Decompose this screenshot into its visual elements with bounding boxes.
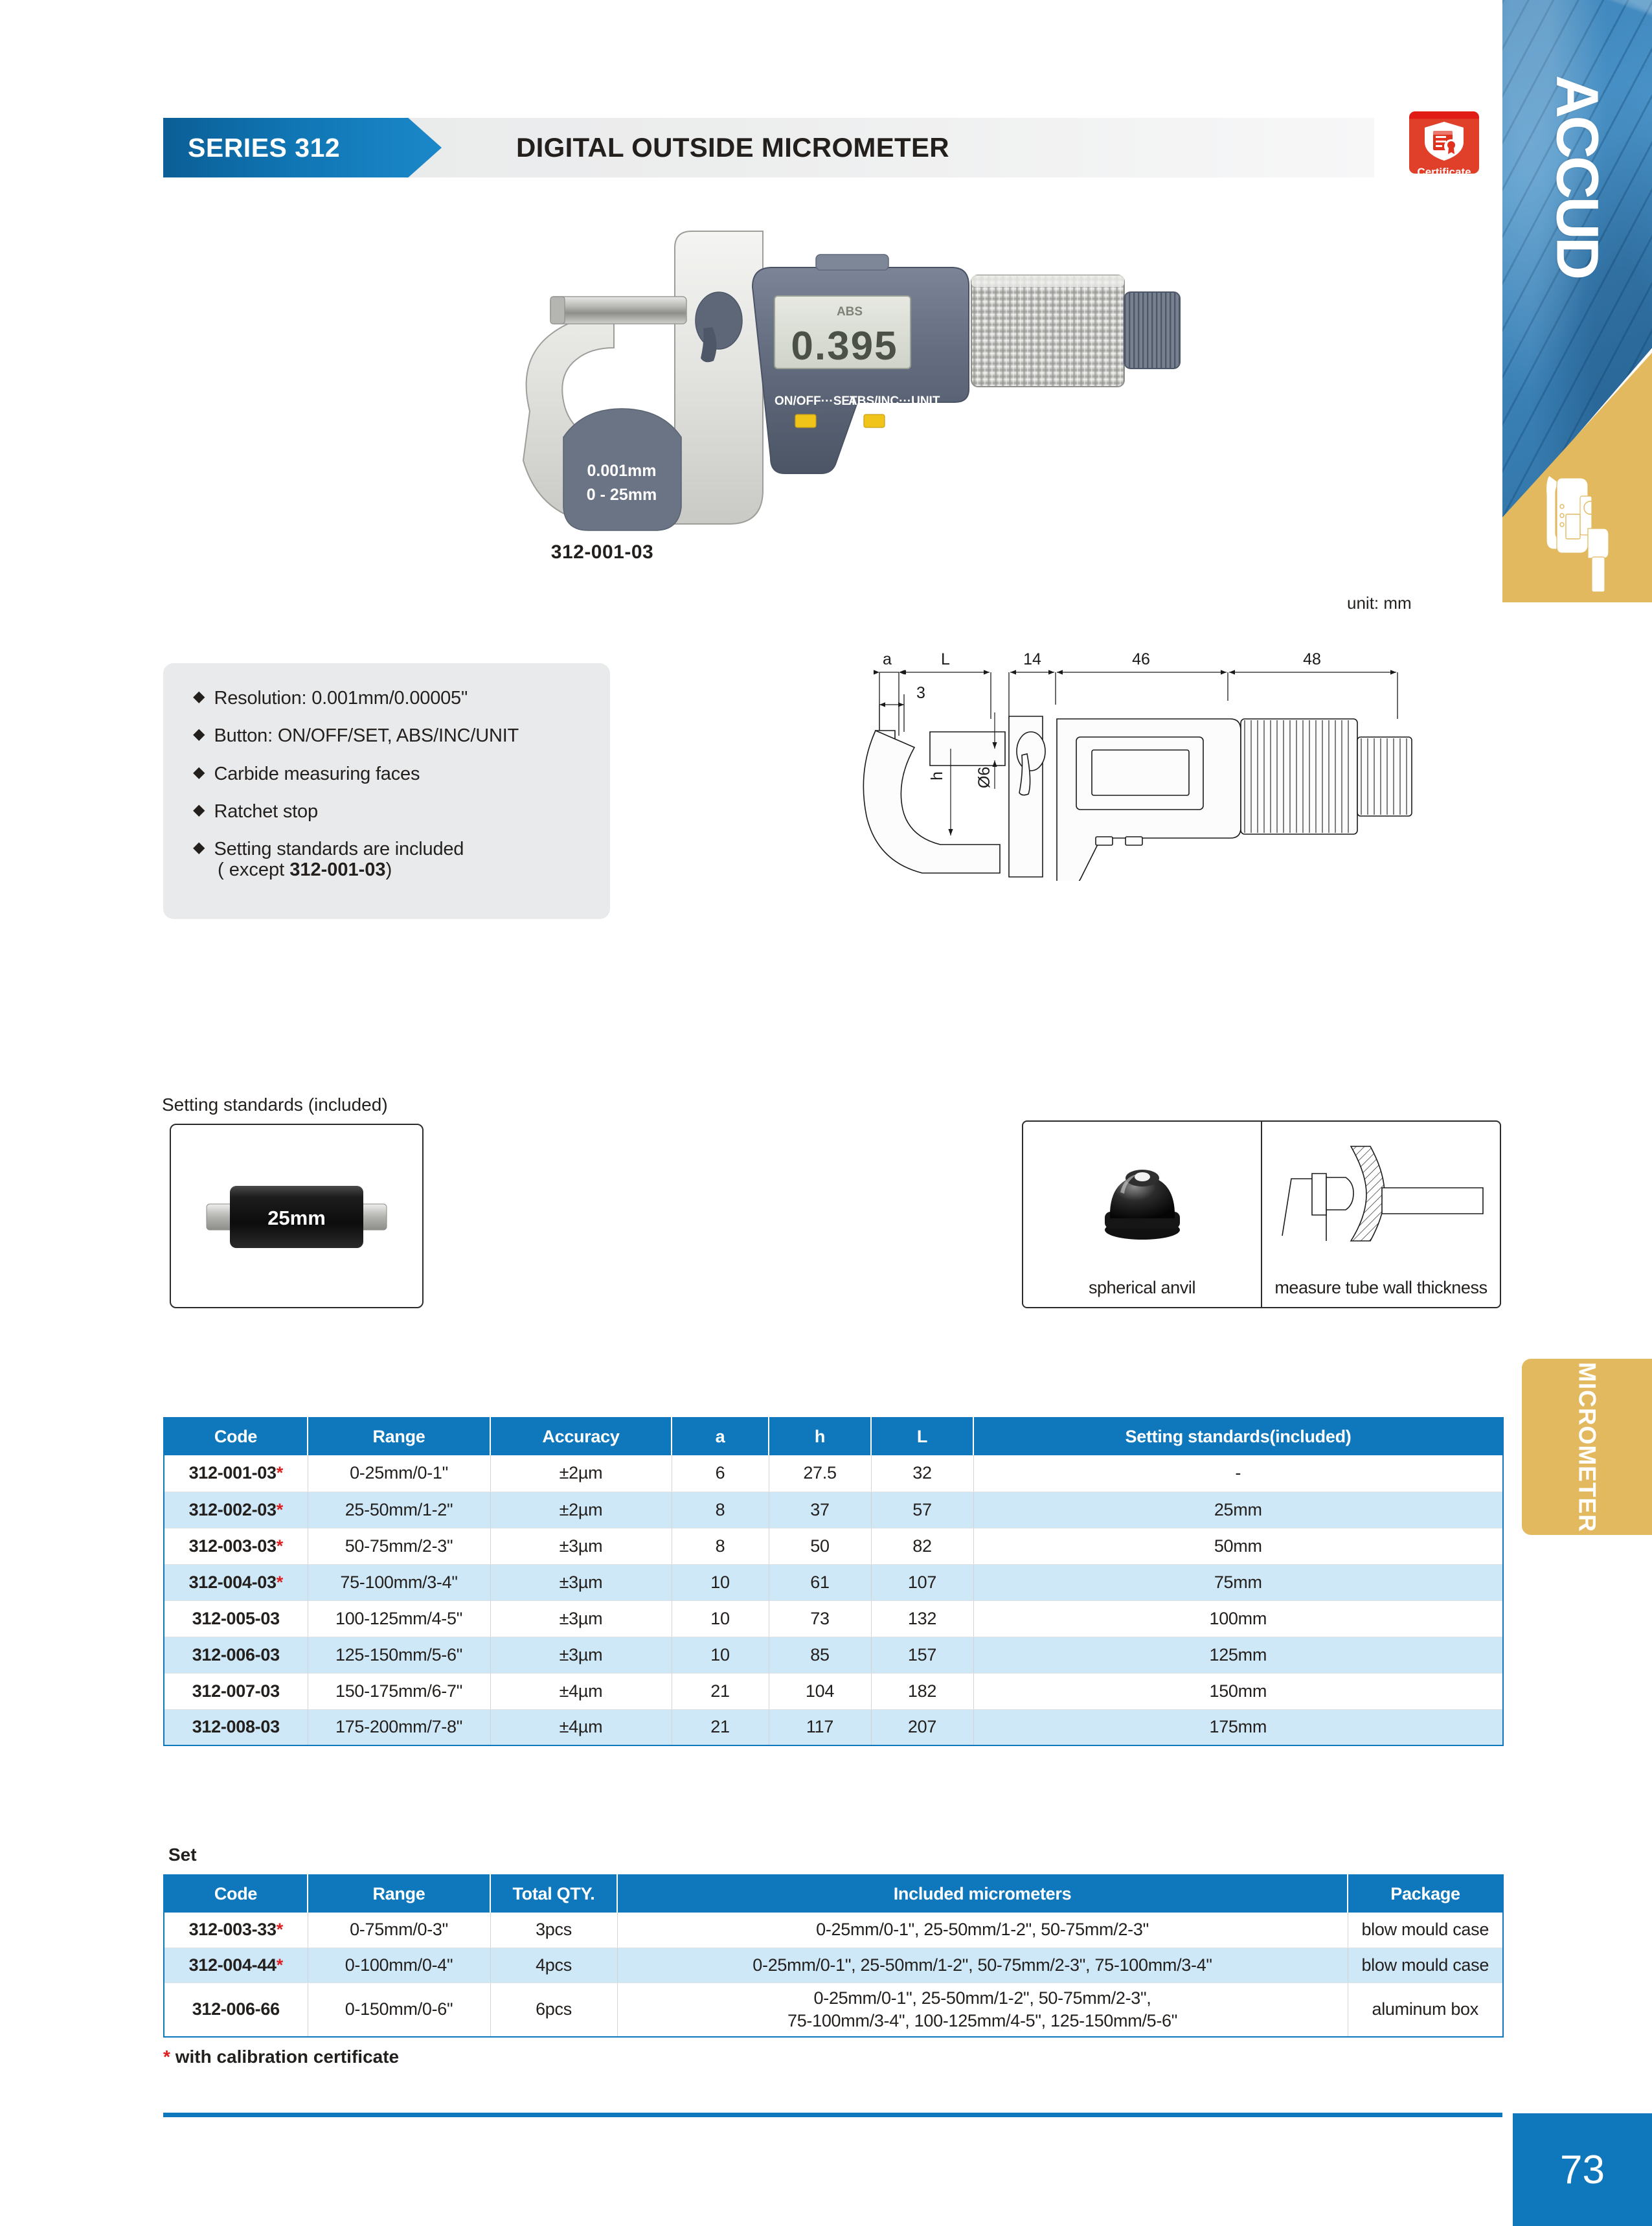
- feature-exception-note: ( except 312-001-03): [218, 859, 610, 881]
- cell-l: 182: [871, 1673, 973, 1709]
- cell-range: 175-200mm/7-8": [308, 1709, 490, 1745]
- footnote-text: with calibration certificate: [175, 2047, 399, 2067]
- cell-a: 10: [672, 1600, 769, 1637]
- accessory-tube-wall-measurement: measure tube wall thickness: [1261, 1122, 1500, 1307]
- cell-code: 312-004-03*: [164, 1564, 308, 1600]
- cell-package: aluminum box: [1348, 1982, 1503, 2037]
- table-row: 312-003-33*0-75mm/0-3"3pcs0-25mm/0-1", 2…: [164, 1913, 1503, 1948]
- mode-button: [864, 415, 885, 427]
- tube-wall-thickness-icon: [1274, 1137, 1488, 1254]
- series-badge: SERIES 312: [163, 118, 442, 177]
- bullet-diamond-icon: ◆: [193, 727, 205, 742]
- cell-h: 27.5: [769, 1455, 871, 1492]
- cell-l: 82: [871, 1528, 973, 1564]
- cell-range: 50-75mm/2-3": [308, 1528, 490, 1564]
- cell-l: 57: [871, 1492, 973, 1528]
- cell-total-qty: 3pcs: [490, 1913, 617, 1948]
- cell-code: 312-003-33*: [164, 1913, 308, 1948]
- brand-logo: ACCUD: [1502, 40, 1652, 312]
- cell-setting-standard: 125mm: [973, 1637, 1503, 1673]
- col-header-included-micrometers: Included micrometers: [617, 1875, 1348, 1913]
- cell-h: 104: [769, 1673, 871, 1709]
- cell-code: 312-005-03: [164, 1600, 308, 1637]
- feature-text: Setting standards are included: [214, 837, 464, 861]
- table-header-row: Code Range Total QTY. Included micromete…: [164, 1875, 1503, 1913]
- specification-table: Code Range Accuracy a h L Setting standa…: [163, 1417, 1504, 1746]
- exception-code: 312-001-03: [289, 859, 385, 880]
- dim-label-a: a: [883, 650, 892, 668]
- cell-code: 312-006-66: [164, 1982, 308, 2037]
- accessory-spherical-anvil: spherical anvil: [1023, 1122, 1261, 1307]
- cell-h: 61: [769, 1564, 871, 1600]
- cell-code: 312-006-03: [164, 1637, 308, 1673]
- cell-a: 10: [672, 1637, 769, 1673]
- cell-setting-standard: 75mm: [973, 1564, 1503, 1600]
- table-row: 312-003-03*50-75mm/2-3"±3µm8508250mm: [164, 1528, 1503, 1564]
- dim-label-46: 46: [1132, 650, 1150, 668]
- tube-wall-diagram: [1262, 1131, 1500, 1260]
- cell-accuracy: ±3µm: [490, 1600, 672, 1637]
- lcd-value: 0.395: [791, 324, 898, 369]
- cell-range: 25-50mm/1-2": [308, 1492, 490, 1528]
- cell-total-qty: 4pcs: [490, 1948, 617, 1982]
- micrometer-icon: [1540, 466, 1618, 596]
- cell-accuracy: ±4µm: [490, 1673, 672, 1709]
- feature-item: ◆ Ratchet stop: [193, 800, 610, 823]
- feature-item: ◆ Setting standards are included: [193, 837, 610, 861]
- col-header-code: Code: [164, 1418, 308, 1455]
- cell-accuracy: ±2µm: [490, 1492, 672, 1528]
- gauge-label: 25mm: [267, 1207, 326, 1229]
- feature-item: ◆ Button: ON/OFF/SET, ABS/INC/UNIT: [193, 724, 610, 747]
- series-label: SERIES 312: [163, 133, 340, 163]
- product-photo-micrometer: 0.001mm 0 - 25mm ABS 0.395 ON/OFF···SET …: [453, 217, 1205, 560]
- col-header-setting-standards: Setting standards(included): [973, 1418, 1503, 1455]
- cell-l: 132: [871, 1600, 973, 1637]
- frame-range-text: 0 - 25mm: [587, 486, 657, 504]
- bullet-diamond-icon: ◆: [193, 802, 205, 818]
- cell-setting-standard: 50mm: [973, 1528, 1503, 1564]
- col-header-range: Range: [308, 1418, 490, 1455]
- col-header-accuracy: Accuracy: [490, 1418, 672, 1455]
- feature-text: Carbide measuring faces: [214, 762, 420, 786]
- bullet-diamond-icon: ◆: [193, 840, 205, 856]
- accessory-panels: spherical anvil: [1022, 1120, 1501, 1308]
- cell-range: 0-25mm/0-1": [308, 1455, 490, 1492]
- cell-a: 8: [672, 1528, 769, 1564]
- cell-accuracy: ±2µm: [490, 1455, 672, 1492]
- col-header-code: Code: [164, 1875, 308, 1913]
- cell-l: 207: [871, 1709, 973, 1745]
- set-section-label: Set: [168, 1845, 197, 1865]
- dim-label-3: 3: [916, 684, 925, 702]
- cell-h: 50: [769, 1528, 871, 1564]
- setting-standards-title: Setting standards (included): [162, 1095, 388, 1115]
- footer-rule: [163, 2113, 1502, 2117]
- cell-package: blow mould case: [1348, 1948, 1503, 1982]
- calibration-asterisk: *: [277, 1955, 283, 1975]
- cell-range: 0-100mm/0-4": [308, 1948, 490, 1982]
- cell-total-qty: 6pcs: [490, 1982, 617, 2037]
- cell-l: 157: [871, 1637, 973, 1673]
- col-header-total-qty: Total QTY.: [490, 1875, 617, 1913]
- cell-included-micrometers: 0-25mm/0-1", 25-50mm/1-2", 50-75mm/2-3",…: [617, 1982, 1348, 2037]
- dim-label-L: L: [941, 650, 950, 668]
- cell-code: 312-008-03: [164, 1709, 308, 1745]
- calibration-asterisk: *: [277, 1500, 283, 1519]
- drawing-unit-label: unit: mm: [1347, 593, 1412, 613]
- cell-code: 312-002-03*: [164, 1492, 308, 1528]
- cell-range: 0-150mm/0-6": [308, 1982, 490, 2037]
- cell-a: 21: [672, 1673, 769, 1709]
- table-row: 312-004-44*0-100mm/0-4"4pcs0-25mm/0-1", …: [164, 1948, 1503, 1982]
- cell-accuracy: ±3µm: [490, 1564, 672, 1600]
- cell-accuracy: ±3µm: [490, 1528, 672, 1564]
- cell-included-micrometers: 0-25mm/0-1", 25-50mm/1-2", 50-75mm/2-3",…: [617, 1948, 1348, 1982]
- col-header-l: L: [871, 1418, 973, 1455]
- cell-range: 100-125mm/4-5": [308, 1600, 490, 1637]
- feature-text: Ratchet stop: [214, 800, 317, 823]
- col-header-h: h: [769, 1418, 871, 1455]
- button-label-absinc: ABS/INC···UNIT: [848, 394, 940, 408]
- cell-setting-standard: 150mm: [973, 1673, 1503, 1709]
- button-label-onoff: ON/OFF···SET: [775, 394, 857, 408]
- set-table: Code Range Total QTY. Included micromete…: [163, 1874, 1504, 2038]
- cell-l: 107: [871, 1564, 973, 1600]
- feature-text: Button: ON/OFF/SET, ABS/INC/UNIT: [214, 724, 519, 747]
- col-header-a: a: [672, 1418, 769, 1455]
- calibration-asterisk: *: [277, 1463, 283, 1482]
- accessory-caption: measure tube wall thickness: [1262, 1278, 1500, 1298]
- cell-code: 312-004-44*: [164, 1948, 308, 1982]
- page-number: 73: [1560, 2147, 1605, 2193]
- product-code-caption: 312-001-03: [453, 541, 751, 563]
- calibration-asterisk: *: [277, 1573, 283, 1592]
- dim-label-14: 14: [1023, 650, 1041, 668]
- table-row: 312-002-03*25-50mm/1-2"±2µm8375725mm: [164, 1492, 1503, 1528]
- cell-setting-standard: -: [973, 1455, 1503, 1492]
- setting-standard-photo-box: 25mm: [170, 1124, 424, 1308]
- cell-package: blow mould case: [1348, 1913, 1503, 1948]
- page-number-box: 73: [1513, 2113, 1652, 2226]
- certificate-badge: Certificate: [1409, 111, 1479, 188]
- cell-setting-standard: 25mm: [973, 1492, 1503, 1528]
- table-row: 312-006-03125-150mm/5-6"±3µm1085157125mm: [164, 1637, 1503, 1673]
- section-tab-micrometer[interactable]: MICROMETER: [1522, 1359, 1652, 1535]
- cell-h: 73: [769, 1600, 871, 1637]
- catalog-page: ACCUD MICROMETER SERIES 312 DIGITAL OUTS…: [0, 0, 1652, 2226]
- page-header: SERIES 312 DIGITAL OUTSIDE MICROMETER: [163, 118, 1374, 177]
- footnote: * with calibration certificate: [163, 2047, 399, 2067]
- feature-item: ◆ Resolution: 0.001mm/0.00005": [193, 687, 610, 710]
- spherical-anvil-photo: [1023, 1131, 1261, 1260]
- table-row: 312-008-03175-200mm/7-8"±4µm21117207175m…: [164, 1709, 1503, 1745]
- section-tab-label: MICROMETER: [1522, 1359, 1652, 1535]
- table-header-row: Code Range Accuracy a h L Setting standa…: [164, 1418, 1503, 1455]
- cell-range: 75-100mm/3-4": [308, 1564, 490, 1600]
- cell-code: 312-001-03*: [164, 1455, 308, 1492]
- certificate-shield-icon: [1422, 120, 1466, 162]
- lcd-mode-indicator: ABS: [837, 305, 863, 319]
- cell-h: 85: [769, 1637, 871, 1673]
- cell-a: 21: [672, 1709, 769, 1745]
- cell-setting-standard: 100mm: [973, 1600, 1503, 1637]
- cell-range: 0-75mm/0-3": [308, 1913, 490, 1948]
- cell-h: 117: [769, 1709, 871, 1745]
- setting-standard-gauge: 25mm: [203, 1174, 390, 1258]
- frame-resolution-text: 0.001mm: [587, 462, 656, 480]
- table-row: 312-004-03*75-100mm/3-4"±3µm106110775mm: [164, 1564, 1503, 1600]
- cell-code: 312-007-03: [164, 1673, 308, 1709]
- cell-a: 8: [672, 1492, 769, 1528]
- cell-l: 32: [871, 1455, 973, 1492]
- cell-code: 312-003-03*: [164, 1528, 308, 1564]
- feature-text: Resolution: 0.001mm/0.00005": [214, 687, 468, 710]
- technical-drawing: a L 14 46 48 3 h Ø6.5: [842, 622, 1425, 881]
- cell-a: 10: [672, 1564, 769, 1600]
- col-header-package: Package: [1348, 1875, 1503, 1913]
- cell-accuracy: ±4µm: [490, 1709, 672, 1745]
- table-row: 312-006-660-150mm/0-6"6pcs0-25mm/0-1", 2…: [164, 1982, 1503, 2037]
- dim-label-h: h: [928, 771, 946, 780]
- bullet-diamond-icon: ◆: [193, 765, 205, 780]
- cell-range: 125-150mm/5-6": [308, 1637, 490, 1673]
- power-button: [795, 415, 816, 427]
- accessory-caption: spherical anvil: [1023, 1278, 1261, 1298]
- table-row: 312-001-03*0-25mm/0-1"±2µm627.532-: [164, 1455, 1503, 1492]
- feature-item: ◆ Carbide measuring faces: [193, 762, 610, 786]
- table-row: 312-007-03150-175mm/6-7"±4µm21104182150m…: [164, 1673, 1503, 1709]
- cell-h: 37: [769, 1492, 871, 1528]
- page-title: DIGITAL OUTSIDE MICROMETER: [516, 118, 949, 177]
- cell-range: 150-175mm/6-7": [308, 1673, 490, 1709]
- cell-included-micrometers: 0-25mm/0-1", 25-50mm/1-2", 50-75mm/2-3": [617, 1913, 1348, 1948]
- calibration-asterisk: *: [277, 1920, 283, 1939]
- cell-accuracy: ±3µm: [490, 1637, 672, 1673]
- features-panel: ◆ Resolution: 0.001mm/0.00005" ◆ Button:…: [163, 663, 610, 919]
- col-header-range: Range: [308, 1875, 490, 1913]
- cell-setting-standard: 175mm: [973, 1709, 1503, 1745]
- bullet-diamond-icon: ◆: [193, 689, 205, 705]
- calibration-asterisk: *: [277, 1536, 283, 1556]
- sidebar-brand-banner: ACCUD: [1502, 0, 1652, 602]
- cell-a: 6: [672, 1455, 769, 1492]
- certificate-label: Certificate: [1409, 166, 1479, 179]
- table-row: 312-005-03100-125mm/4-5"±3µm1073132100mm: [164, 1600, 1503, 1637]
- spherical-anvil-icon: [1091, 1147, 1194, 1244]
- footnote-asterisk: *: [163, 2047, 170, 2067]
- dim-label-48: 48: [1303, 650, 1321, 668]
